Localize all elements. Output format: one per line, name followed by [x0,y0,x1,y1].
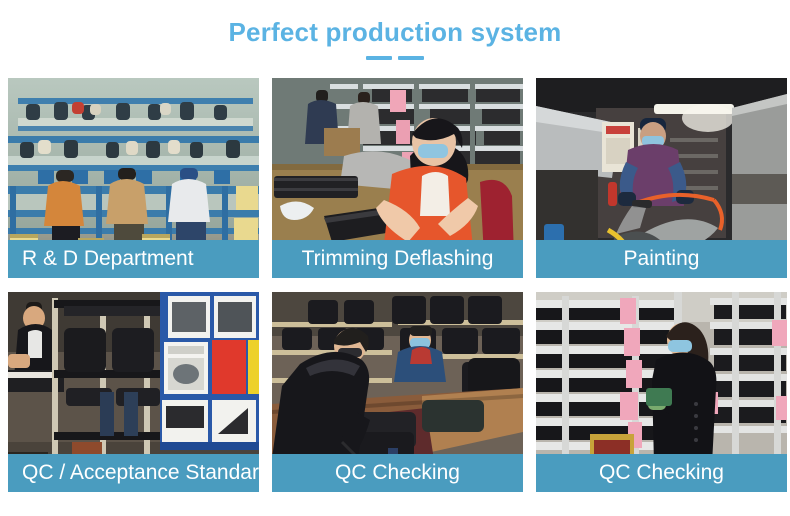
tile-caption: Painting [536,240,787,278]
divider-dash-right [398,56,424,60]
page-header: Perfect production system [0,0,790,60]
tile-caption: QC Checking [272,454,523,492]
tile-caption: R & D Department [8,240,259,278]
tile-caption: Trimming Deflashing [272,240,523,278]
gallery-grid: R & D Department [8,78,782,492]
tile-caption: QC Checking [536,454,787,492]
gallery-tile[interactable]: R & D Department [8,78,259,278]
divider-dash-left [366,56,392,60]
gallery-tile[interactable]: QC / Acceptance Standard [8,292,259,492]
production-system-gallery-page: Perfect production system [0,0,790,516]
gallery-tile[interactable]: Trimming Deflashing [272,78,523,278]
tile-caption: QC / Acceptance Standard [8,454,259,492]
gallery-tile[interactable]: QC Checking [272,292,523,492]
gallery-tile[interactable]: Painting [536,78,787,278]
gallery-tile[interactable]: QC Checking [536,292,787,492]
page-title: Perfect production system [0,16,790,48]
title-divider [365,56,425,60]
